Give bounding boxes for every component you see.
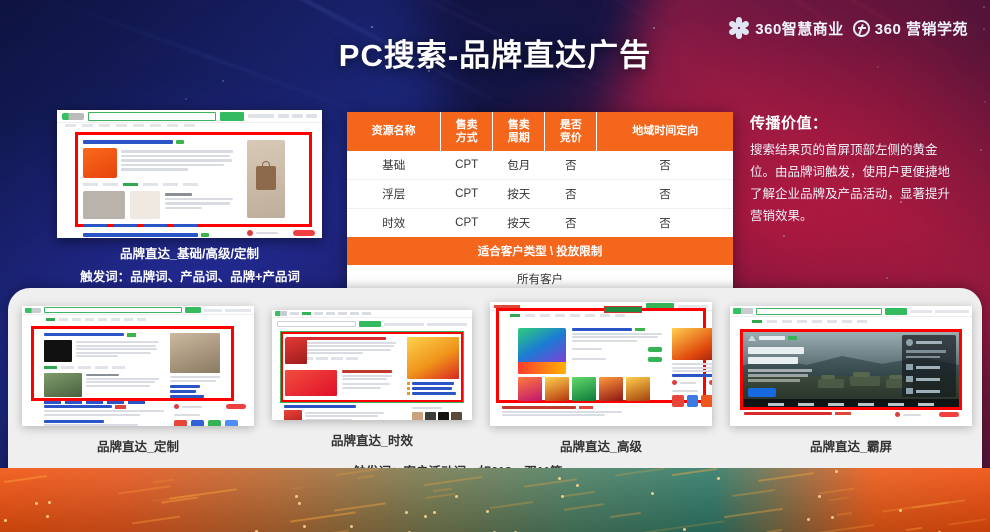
serp-search-input[interactable]: [277, 321, 356, 327]
promo-creative: [407, 337, 459, 379]
serp-header: [272, 310, 472, 318]
serp-search-input[interactable]: [756, 308, 882, 315]
screenshot-custom: [22, 306, 254, 426]
caption-timely: 品牌直达_时效: [272, 430, 472, 449]
ad-hero-image: [247, 140, 285, 218]
organic-result-block: [284, 405, 384, 420]
ad-badge: [201, 233, 209, 237]
value-proposition: 传播价值： 搜索结果页的首屏顶部左侧的黄金位。由品牌词触发，使用户更便捷地了解企…: [750, 112, 950, 228]
table-cell: 按天: [493, 180, 545, 209]
ad-result-block: [572, 328, 662, 362]
spec-table: 资源名称 售卖 方式 售卖 周期 是否 竞价 地域时间定向 基础 CPT 包月 …: [347, 112, 733, 293]
table-row: 浮层 CPT 按天 否 否: [347, 180, 733, 209]
table-cell: 否: [597, 209, 733, 238]
organic-result-block: [44, 405, 164, 426]
ad-links: [342, 370, 397, 389]
serp-search-button[interactable]: [359, 321, 381, 327]
serp-logo-icon: [62, 113, 84, 120]
table-subheader: 适合客户类型 \ 投放限制: [347, 237, 733, 265]
caption-advanced: 品牌直达_高级: [490, 436, 712, 455]
organic-result-block: [744, 412, 874, 415]
table-cell: CPT: [441, 180, 493, 209]
serp-header: [22, 306, 254, 315]
table-cell: 时效: [347, 209, 441, 238]
table-cell: CPT: [441, 151, 493, 180]
table-cell: 否: [545, 151, 597, 180]
table-header-cell: 是否 竞价: [545, 112, 597, 151]
table-header-row: 资源名称 售卖 方式 售卖 周期 是否 竞价 地域时间定向: [347, 112, 733, 151]
serp-nav-tabs[interactable]: [752, 320, 867, 323]
caption-main-preview: 品牌直达_基础/高级/定制: [57, 243, 322, 262]
table-cell: 否: [597, 180, 733, 209]
ad-subnav[interactable]: [83, 183, 233, 186]
serp-nav-tabs[interactable]: [46, 318, 146, 321]
table-cell: 否: [545, 180, 597, 209]
screenshot-advanced: [490, 302, 712, 426]
table-cell: 包月: [493, 151, 545, 180]
game-creative-label: [518, 362, 566, 374]
ad-hero-image: [672, 328, 712, 377]
ad-badge: [176, 140, 184, 144]
caption-takeover: 品牌直达_霸屏: [730, 436, 972, 455]
screenshot-timely: [272, 310, 472, 420]
table-header-cell: 资源名称: [347, 112, 441, 151]
ad-result-block: [44, 333, 159, 404]
serp-search-input[interactable]: [88, 112, 216, 121]
serp-logo-icon: [25, 308, 41, 313]
table-cell: 基础: [347, 151, 441, 180]
serp-right-rail: [412, 405, 464, 420]
ad-hero-image: [170, 333, 220, 398]
serp-user-menu[interactable]: [278, 114, 317, 118]
serp-right-rail: [895, 412, 959, 417]
trigger-words-top: 触发词：品牌词、产品词、品牌+产品词: [35, 266, 345, 285]
ad-result-block: [83, 140, 233, 227]
serp-search-button[interactable]: [885, 308, 907, 315]
serp-nav-tabs[interactable]: [57, 123, 322, 130]
page-title: PC搜索-品牌直达广告: [0, 30, 990, 75]
table-cell: 否: [597, 151, 733, 180]
ad-title[interactable]: [83, 140, 173, 144]
table-row: 时效 CPT 按天 否 否: [347, 209, 733, 238]
product-image: [130, 191, 160, 219]
promo-banner: [285, 370, 337, 396]
ad-sitelinks: [407, 382, 459, 395]
table-header-cell: 售卖 周期: [493, 112, 545, 151]
screenshot-takeover: [730, 306, 972, 426]
serp-right-rail: [174, 404, 246, 426]
brand-logo-thumb: [83, 148, 117, 178]
serp-right-rail: [672, 380, 712, 407]
organic-result-block: [83, 233, 243, 238]
gallery-panel: 品牌直达_定制: [8, 288, 982, 496]
brand-logo-thumb: [285, 338, 307, 364]
serp-header: [57, 110, 322, 123]
product-image: [83, 191, 125, 219]
screenshot-brand-direct-main: LV HERM: [57, 110, 322, 238]
serp-search-button[interactable]: [220, 112, 244, 121]
caption-custom: 品牌直达_定制: [22, 436, 254, 455]
game-tiles[interactable]: [518, 377, 650, 401]
result-title[interactable]: [83, 233, 198, 237]
table-cell: CPT: [441, 209, 493, 238]
serp-search-button[interactable]: [185, 307, 201, 313]
organic-result-block: [502, 406, 622, 416]
table-cell: 否: [545, 209, 597, 238]
serp-right-rail: LV HERM: [247, 230, 315, 238]
bottom-decorative-band: [0, 468, 990, 532]
table-cell: 浮层: [347, 180, 441, 209]
serp-search-input[interactable]: [44, 307, 182, 313]
value-body: 搜索结果页的首屏顶部左侧的黄金位。由品牌词触发，使用户更便捷地了解企业品牌及产品…: [750, 140, 950, 228]
table-row: 基础 CPT 包月 否 否: [347, 151, 733, 180]
highlight-marker: [604, 306, 642, 313]
table-header-cell: 地域时间定向: [597, 112, 733, 151]
serp-header: [730, 306, 972, 317]
serp-mock: LV HERM: [57, 110, 322, 238]
serp-hotword: [248, 114, 274, 118]
highlight-box: [740, 329, 962, 410]
table-cell: 按天: [493, 209, 545, 238]
value-title: 传播价值：: [750, 112, 950, 133]
table-header-cell: 售卖 方式: [441, 112, 493, 151]
